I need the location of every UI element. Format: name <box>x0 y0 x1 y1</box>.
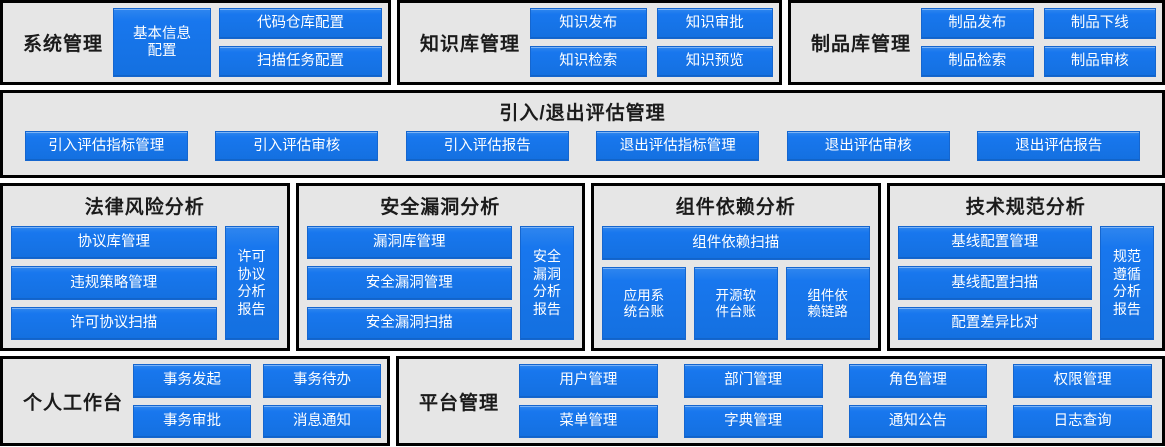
button-task-todo[interactable]: 事务待办 <box>263 364 381 398</box>
button-menu-management[interactable]: 菜单管理 <box>519 405 658 439</box>
panel-legal-risk-analysis: 法律风险分析 协议库管理 违规策略管理 许可协议扫描 许可 协议 分析 报告 <box>0 183 290 351</box>
row-top-modules: 系统管理 基本信息 配置 代码仓库配置 扫描任务配置 知识库管理 知识发布 知识… <box>0 0 1165 85</box>
platform-management-buttons: 用户管理 部门管理 角色管理 权限管理 菜单管理 字典管理 通知公告 日志查询 <box>509 364 1156 438</box>
button-exit-eval-indicator-management[interactable]: 退出评估指标管理 <box>596 131 759 161</box>
button-baseline-config-management[interactable]: 基线配置管理 <box>898 226 1093 259</box>
panel-security-vulnerability-analysis: 安全漏洞分析 漏洞库管理 安全漏洞管理 安全漏洞扫描 安全 漏洞 分析 报告 <box>296 183 586 351</box>
panel-technical-specification-analysis: 技术规范分析 基线配置管理 基线配置扫描 配置差异比对 规范 遵循 分析 报告 <box>887 183 1165 351</box>
function-map: 系统管理 基本信息 配置 代码仓库配置 扫描任务配置 知识库管理 知识发布 知识… <box>0 0 1165 447</box>
button-permission-management[interactable]: 权限管理 <box>1013 364 1152 398</box>
button-violation-policy-management[interactable]: 违规策略管理 <box>11 266 217 299</box>
button-knowledge-search[interactable]: 知识检索 <box>530 46 646 77</box>
knowledge-base-buttons: 知识发布 知识审批 知识检索 知识预览 <box>530 8 773 77</box>
panel-platform-management: 平台管理 用户管理 部门管理 角色管理 权限管理 菜单管理 字典管理 通知公告 … <box>396 356 1165 446</box>
panel-title-artifact-repository-management: 制品库管理 <box>797 29 921 56</box>
technical-specification-buttons: 基线配置管理 基线配置扫描 配置差异比对 <box>898 226 1093 340</box>
button-code-repository-config[interactable]: 代码仓库配置 <box>219 8 382 39</box>
button-role-management[interactable]: 角色管理 <box>849 364 988 398</box>
panel-title-security-vulnerability-analysis: 安全漏洞分析 <box>307 192 575 219</box>
panel-component-dependency-analysis: 组件依赖分析 组件依赖扫描 应用系 统台账 开源软 件台账 组件依 赖链路 <box>591 183 881 351</box>
button-knowledge-preview[interactable]: 知识预览 <box>657 46 774 77</box>
panel-title-knowledge-base-management: 知识库管理 <box>406 29 530 56</box>
button-basic-info-config[interactable]: 基本信息 配置 <box>113 8 211 77</box>
panel-title-intro-exit-evaluation-management: 引入/退出评估管理 <box>11 98 1154 125</box>
button-exit-eval-review[interactable]: 退出评估审核 <box>787 131 950 161</box>
button-knowledge-approval[interactable]: 知识审批 <box>657 8 774 39</box>
button-department-management[interactable]: 部门管理 <box>684 364 823 398</box>
row-analysis-modules: 法律风险分析 协议库管理 违规策略管理 许可协议扫描 许可 协议 分析 报告 安… <box>0 183 1165 351</box>
button-application-system-ledger[interactable]: 应用系 统台账 <box>602 267 686 340</box>
panel-knowledge-base-management: 知识库管理 知识发布 知识审批 知识检索 知识预览 <box>397 0 782 85</box>
panel-title-legal-risk-analysis: 法律风险分析 <box>11 192 279 219</box>
personal-workbench-buttons: 事务发起 事务待办 事务审批 消息通知 <box>133 364 381 438</box>
button-artifact-publish[interactable]: 制品发布 <box>921 8 1033 39</box>
button-scan-task-config[interactable]: 扫描任务配置 <box>219 46 382 77</box>
legal-risk-analysis-body: 协议库管理 违规策略管理 许可协议扫描 许可 协议 分析 报告 <box>11 226 279 340</box>
button-open-source-software-ledger[interactable]: 开源软 件台账 <box>694 267 778 340</box>
row-evaluation-management: 引入/退出评估管理 引入评估指标管理 引入评估审核 引入评估报告 退出评估指标管… <box>0 90 1165 178</box>
button-intro-eval-review[interactable]: 引入评估审核 <box>215 131 378 161</box>
button-vulnerability-repository-management[interactable]: 漏洞库管理 <box>307 226 513 259</box>
button-security-vulnerability-report[interactable]: 安全 漏洞 分析 报告 <box>520 226 574 340</box>
button-security-vulnerability-management[interactable]: 安全漏洞管理 <box>307 266 513 299</box>
panel-title-platform-management: 平台管理 <box>405 388 509 415</box>
artifact-repository-buttons: 制品发布 制品下线 制品检索 制品审核 <box>921 8 1156 77</box>
button-license-agreement-scan[interactable]: 许可协议扫描 <box>11 307 217 340</box>
button-artifact-search[interactable]: 制品检索 <box>921 46 1033 77</box>
button-component-dependency-scan[interactable]: 组件依赖扫描 <box>602 226 870 260</box>
button-message-notification[interactable]: 消息通知 <box>263 405 381 439</box>
button-artifact-review[interactable]: 制品审核 <box>1044 46 1157 77</box>
security-vulnerability-analysis-body: 漏洞库管理 安全漏洞管理 安全漏洞扫描 安全 漏洞 分析 报告 <box>307 226 575 340</box>
legal-risk-analysis-buttons: 协议库管理 违规策略管理 许可协议扫描 <box>11 226 217 340</box>
button-license-analysis-report[interactable]: 许可 协议 分析 报告 <box>225 226 279 340</box>
row-bottom-modules: 个人工作台 事务发起 事务待办 事务审批 消息通知 平台管理 用户管理 部门管理… <box>0 356 1165 446</box>
evaluation-management-buttons: 引入评估指标管理 引入评估审核 引入评估报告 退出评估指标管理 退出评估审核 退… <box>11 131 1154 161</box>
button-intro-eval-indicator-management[interactable]: 引入评估指标管理 <box>25 131 188 161</box>
button-user-management[interactable]: 用户管理 <box>519 364 658 398</box>
button-task-initiate[interactable]: 事务发起 <box>133 364 251 398</box>
panel-intro-exit-evaluation-management: 引入/退出评估管理 引入评估指标管理 引入评估审核 引入评估报告 退出评估指标管… <box>0 90 1165 178</box>
panel-system-management: 系统管理 基本信息 配置 代码仓库配置 扫描任务配置 <box>0 0 391 85</box>
security-vulnerability-buttons: 漏洞库管理 安全漏洞管理 安全漏洞扫描 <box>307 226 513 340</box>
system-management-button-stack: 代码仓库配置 扫描任务配置 <box>219 8 382 77</box>
button-specification-compliance-report[interactable]: 规范 遵循 分析 报告 <box>1100 226 1154 340</box>
button-intro-eval-report[interactable]: 引入评估报告 <box>406 131 569 161</box>
button-security-vulnerability-scan[interactable]: 安全漏洞扫描 <box>307 307 513 340</box>
panel-title-technical-specification-analysis: 技术规范分析 <box>898 192 1155 219</box>
button-knowledge-publish[interactable]: 知识发布 <box>530 8 646 39</box>
panel-title-personal-workbench: 个人工作台 <box>9 388 133 415</box>
button-log-query[interactable]: 日志查询 <box>1013 405 1152 439</box>
button-dictionary-management[interactable]: 字典管理 <box>684 405 823 439</box>
button-config-difference-comparison[interactable]: 配置差异比对 <box>898 307 1093 340</box>
technical-specification-body: 基线配置管理 基线配置扫描 配置差异比对 规范 遵循 分析 报告 <box>898 226 1155 340</box>
component-dependency-body: 组件依赖扫描 应用系 统台账 开源软 件台账 组件依 赖链路 <box>602 226 870 340</box>
button-license-repository-management[interactable]: 协议库管理 <box>11 226 217 259</box>
button-exit-eval-report[interactable]: 退出评估报告 <box>977 131 1140 161</box>
button-task-approval[interactable]: 事务审批 <box>133 405 251 439</box>
button-component-dependency-chain[interactable]: 组件依 赖链路 <box>786 267 870 340</box>
button-artifact-offline[interactable]: 制品下线 <box>1044 8 1157 39</box>
panel-title-system-management: 系统管理 <box>9 29 113 56</box>
panel-personal-workbench: 个人工作台 事务发起 事务待办 事务审批 消息通知 <box>0 356 390 446</box>
system-management-buttons: 基本信息 配置 代码仓库配置 扫描任务配置 <box>113 8 382 77</box>
button-baseline-config-scan[interactable]: 基线配置扫描 <box>898 266 1093 299</box>
button-notice-announcement[interactable]: 通知公告 <box>849 405 988 439</box>
panel-artifact-repository-management: 制品库管理 制品发布 制品下线 制品检索 制品审核 <box>788 0 1165 85</box>
component-dependency-buttons: 应用系 统台账 开源软 件台账 组件依 赖链路 <box>602 267 870 340</box>
panel-title-component-dependency-analysis: 组件依赖分析 <box>602 192 870 219</box>
